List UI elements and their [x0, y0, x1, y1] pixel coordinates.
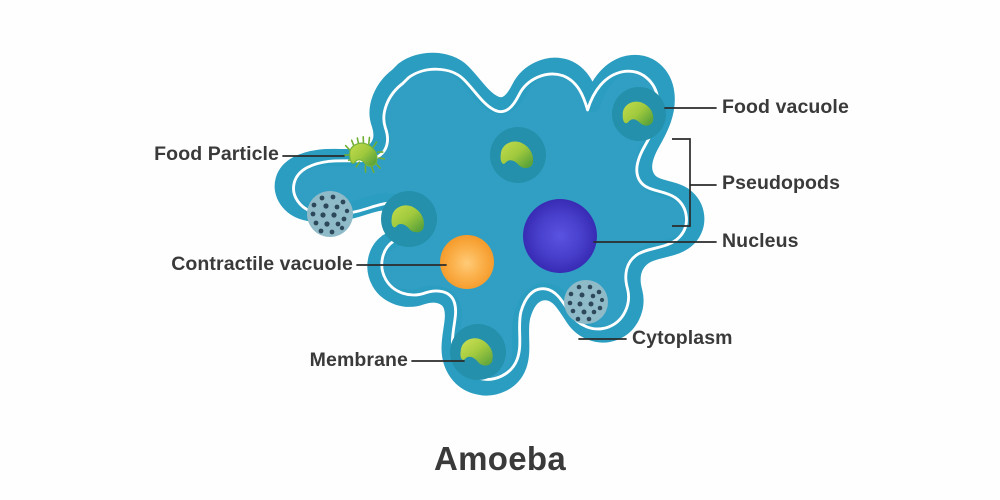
- label-contractile-vacuole: Contractile vacuole: [0, 255, 353, 275]
- figure-title: Amoeba: [0, 440, 1000, 478]
- label-food-particle: Food Particle: [0, 145, 279, 165]
- contractile-vacuole-organelle: [440, 235, 494, 289]
- food-vacuole-fv-left-mid: [381, 191, 437, 247]
- label-nucleus: Nucleus: [722, 232, 799, 252]
- granule-cluster-granule-right: [564, 280, 608, 324]
- nucleus-organelle: [523, 199, 597, 273]
- label-membrane: Membrane: [0, 351, 408, 371]
- food-vacuole-fv-top-right: [612, 87, 666, 141]
- label-food-vacuole: Food vacuole: [722, 98, 849, 118]
- food-vacuole-fv-upper-mid: [490, 127, 546, 183]
- amoeba-diagram-svg: [0, 0, 1000, 500]
- food-vacuole-fv-bottom: [450, 324, 506, 380]
- label-pseudopods: Pseudopods: [722, 174, 840, 194]
- diagram-canvas: Food vacuole Pseudopods Nucleus Cytoplas…: [0, 0, 1000, 500]
- label-cytoplasm: Cytoplasm: [632, 329, 733, 349]
- granule-cluster-granule-left: [307, 191, 353, 237]
